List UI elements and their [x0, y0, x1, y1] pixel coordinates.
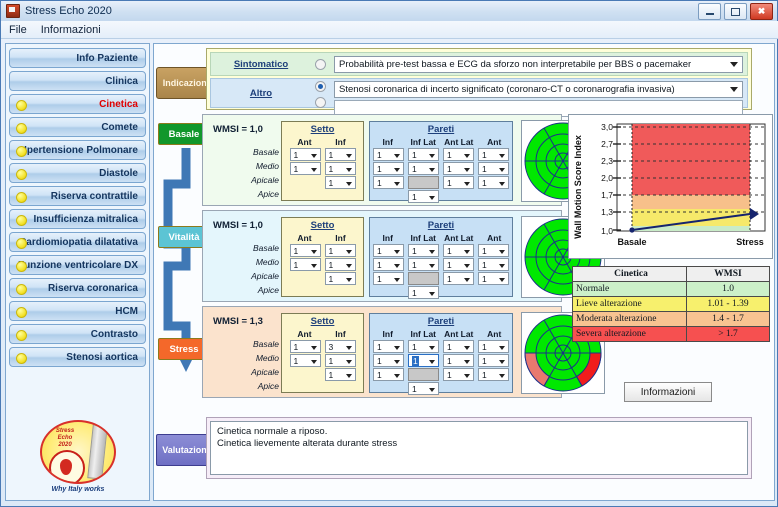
pareti-headers: Inf Inf Lat Ant Lat Ant — [370, 329, 512, 339]
legend-wmsi: 1.4 - 1.7 — [687, 312, 769, 326]
setto-cell[interactable]: 1 — [325, 368, 356, 381]
status-dot-icon — [16, 146, 27, 157]
legend-row-moderata: Moderata alterazione 1.4 - 1.7 — [573, 312, 769, 327]
row-label-medio: Medio — [223, 255, 279, 269]
sidebar: Info Paziente Clinica Cinetica Comete Ip… — [5, 43, 150, 501]
pareti-cell[interactable]: 1 — [408, 148, 439, 161]
status-dot-icon — [16, 238, 27, 249]
header-inf: Inf — [323, 329, 359, 339]
setto-cell[interactable]: 1 — [325, 272, 356, 285]
row-label-basale: Basale — [223, 337, 279, 351]
pareti-grid-basale: Pareti Inf Inf Lat Ant Lat Ant 1 1 1 1 1… — [369, 121, 513, 201]
siec-seal-icon — [49, 450, 85, 484]
sidebar-item-contrasto[interactable]: Contrasto — [9, 324, 146, 344]
wmsi-value-basale: WMSI = 1,0 — [213, 124, 263, 135]
sintomatico-label: Sintomatico — [215, 59, 307, 70]
pareti-row-basale: 1 1 1 1 — [370, 148, 512, 161]
pareti-cell[interactable]: 1 — [478, 340, 509, 353]
row-label-medio: Medio — [223, 159, 279, 173]
wmsi-chart-svg: Wall Motion Score Index 3,0 2,7 2,3 2,0 … — [569, 115, 772, 258]
pareti-cell[interactable]: 1 — [373, 176, 404, 189]
pareti-cell[interactable]: 1 — [478, 176, 509, 189]
sidebar-item-label: Stenosi aortica — [66, 352, 138, 363]
pareti-cell[interactable]: 1 — [408, 258, 439, 271]
pareti-cell[interactable]: 1 — [443, 272, 474, 285]
setto-grid-basale: Setto Ant Inf 1 1 1 1 1 — [281, 121, 364, 201]
sidebar-item-label: Riserva contrattile — [51, 191, 138, 202]
indicazioni-row-altro: Altro Stenosi coronarica di incerto sign… — [210, 78, 748, 108]
pareti-cell[interactable]: 1 — [408, 162, 439, 175]
header-inf-lat: Inf Lat — [406, 329, 442, 339]
pareti-cell[interactable]: 1 — [443, 148, 474, 161]
legend-wmsi: 1.0 — [687, 282, 769, 296]
header-inf: Inf — [323, 137, 359, 147]
wmsi-legend-table: Cinetica WMSI Normale 1.0 Lieve alterazi… — [572, 266, 770, 342]
legend-wmsi: 1.01 - 1.39 — [687, 297, 769, 311]
sidebar-item-comete[interactable]: Comete — [9, 117, 146, 137]
pareti-cell[interactable]: 1 — [373, 368, 404, 381]
pareti-cell[interactable]: 1 — [443, 354, 474, 367]
row-label-apice: Apice — [223, 379, 279, 393]
sidebar-item-clinica[interactable]: Clinica — [9, 71, 146, 91]
sidebar-item-stenosi-aortica[interactable]: Stenosi aortica — [9, 347, 146, 367]
pareti-row-apicale: 1 1 1 — [370, 368, 512, 381]
setto-row-apicale: 1 — [282, 272, 363, 285]
altro-dropdown[interactable]: Stenosi coronarica di incerto significat… — [334, 81, 743, 98]
valutazione-line-1: Cinetica normale a riposo. — [217, 426, 741, 438]
status-dot-icon — [16, 353, 27, 364]
pareti-cell[interactable]: 1 — [478, 148, 509, 161]
ytick-2-7: 2,7 — [601, 139, 613, 149]
pareti-cell[interactable]: 1 — [408, 286, 439, 299]
pareti-cell[interactable]: 1 — [478, 244, 509, 257]
setto-title: Setto — [282, 316, 363, 327]
app-logo: Stress Echo 2020 Why Italy works — [28, 420, 128, 498]
pareti-row-medio: 1 1 1 1 — [370, 162, 512, 175]
pareti-cell[interactable]: 1 — [443, 368, 474, 381]
setto-row-apicale: 1 — [282, 368, 363, 381]
maximize-button[interactable] — [724, 3, 747, 20]
row-label-basale: Basale — [223, 241, 279, 255]
status-dot-icon — [16, 100, 27, 111]
row-label-apicale: Apicale — [223, 269, 279, 283]
sidebar-item-info-paziente[interactable]: Info Paziente — [9, 48, 146, 68]
legend-wmsi: > 1.7 — [687, 327, 769, 341]
menu-item-informazioni[interactable]: Informazioni — [41, 24, 101, 36]
row-label-apice: Apice — [223, 187, 279, 201]
ytick-1-3: 1,3 — [601, 207, 613, 217]
setto-cell[interactable]: 1 — [290, 354, 321, 367]
setto-grid-vitalita: Setto Ant Inf 1 1 1 1 1 — [281, 217, 364, 297]
sintomatico-radio[interactable] — [315, 59, 326, 70]
stage-row-stress: WMSI = 1,3 Basale Medio Apicale Apice Se… — [202, 306, 562, 398]
pareti-cell[interactable]: 1 — [443, 176, 474, 189]
xtick-stress: Stress — [736, 237, 764, 247]
setto-row-basale: 1 1 — [282, 148, 363, 161]
ytick-1-0: 1,0 — [601, 226, 613, 236]
status-dot-icon — [16, 169, 27, 180]
ytick-2-0: 2,0 — [601, 173, 613, 183]
pareti-title: Pareti — [370, 124, 512, 135]
pareti-row-medio: 1 1 1 1 — [370, 258, 512, 271]
header-ant-lat: Ant Lat — [441, 137, 477, 147]
window-title: Stress Echo 2020 — [25, 5, 112, 17]
pareti-row-medio: 1 1 1 1 — [370, 354, 512, 367]
status-dot-icon — [16, 307, 27, 318]
pareti-cell-disabled — [408, 368, 439, 381]
legend-row-lieve: Lieve alterazione 1.01 - 1.39 — [573, 297, 769, 312]
sidebar-item-label: HCM — [115, 306, 138, 317]
pareti-cell[interactable]: 1 — [443, 340, 474, 353]
setto-cell[interactable]: 1 — [290, 340, 321, 353]
pareti-cell-focused[interactable]: 1 — [408, 354, 439, 367]
logo-text: Stress Echo 2020 — [47, 428, 83, 449]
setto-headers: Ant Inf — [282, 137, 363, 147]
header-ant: Ant — [477, 233, 513, 243]
title-bar: Stress Echo 2020 ✖ — [1, 1, 777, 22]
close-button[interactable]: ✖ — [750, 3, 773, 20]
setto-row-medio: 1 1 — [282, 354, 363, 367]
header-inf: Inf — [370, 329, 406, 339]
header-ant: Ant — [477, 137, 513, 147]
setto-cell[interactable]: 1 — [325, 148, 356, 161]
header-inf: Inf — [370, 137, 406, 147]
setto-cell[interactable]: 1 — [290, 148, 321, 161]
setto-cell-empty — [290, 176, 321, 189]
pareti-cell[interactable]: 1 — [443, 162, 474, 175]
setto-row-basale: 1 1 — [282, 244, 363, 257]
pareti-cell[interactable]: 1 — [373, 354, 404, 367]
row-label-apicale: Apicale — [223, 173, 279, 187]
logo-line-3: 2020 — [47, 442, 83, 449]
setto-row-medio: 1 1 — [282, 162, 363, 175]
sidebar-item-riserva-contrattile[interactable]: Riserva contrattile — [9, 186, 146, 206]
header-inf-lat: Inf Lat — [406, 137, 442, 147]
setto-cell[interactable]: 1 — [290, 162, 321, 175]
pareti-row-apice: 1 — [370, 382, 512, 395]
pareti-cell[interactable]: 1 — [478, 354, 509, 367]
header-ant: Ant — [477, 329, 513, 339]
sidebar-item-label: Clinica — [105, 76, 138, 87]
pareti-row-apice: 1 — [370, 286, 512, 299]
setto-row-apicale: 1 — [282, 176, 363, 189]
pareti-cell[interactable]: 1 — [408, 340, 439, 353]
pareti-cell[interactable]: 1 — [408, 190, 439, 203]
row-label-basale: Basale — [223, 145, 279, 159]
pareti-cell[interactable]: 1 — [478, 258, 509, 271]
wmsi-value-vitalita: WMSI = 1,0 — [213, 220, 263, 231]
window-controls: ✖ — [698, 3, 773, 20]
status-dot-icon — [16, 261, 27, 272]
legend-cinetica: Normale — [573, 282, 687, 296]
sidebar-item-label: Contrasto — [91, 329, 138, 340]
pareti-cell-disabled — [408, 176, 439, 189]
pareti-cell[interactable]: 1 — [373, 340, 404, 353]
status-dot-icon — [16, 284, 27, 295]
pareti-cell[interactable]: 1 — [373, 272, 404, 285]
header-ant: Ant — [287, 233, 323, 243]
sintomatico-dropdown[interactable]: Probabilità pre-test bassa e ECG da sfor… — [334, 56, 743, 73]
sidebar-item-insufficienza-mitralica[interactable]: Insufficienza mitralica — [9, 209, 146, 229]
setto-cell[interactable]: 1 — [325, 258, 356, 271]
setto-title: Setto — [282, 124, 363, 135]
logo-tagline: Why Italy works — [28, 486, 128, 493]
pisa-tower-icon — [87, 424, 108, 479]
pareti-cell[interactable]: 1 — [408, 382, 439, 395]
chevron-down-icon — [730, 87, 738, 92]
header-inf-lat: Inf Lat — [406, 233, 442, 243]
sidebar-item-hcm[interactable]: HCM — [9, 301, 146, 321]
row-label-medio: Medio — [223, 351, 279, 365]
row-labels-basale: Basale Medio Apicale Apice — [223, 145, 279, 201]
legend-cinetica: Lieve alterazione — [573, 297, 687, 311]
setto-cell[interactable]: 1 — [290, 258, 321, 271]
sidebar-item-riserva-coronarica[interactable]: Riserva coronarica — [9, 278, 146, 298]
sidebar-item-label: Funzione ventricolare DX — [18, 260, 138, 271]
pareti-row-apicale: 1 1 1 — [370, 176, 512, 189]
valutazione-textarea[interactable]: Cinetica normale a riposo. Cinetica liev… — [210, 421, 748, 475]
stage-row-vitalita: WMSI = 1,0 Basale Medio Apicale Apice Se… — [202, 210, 562, 302]
pareti-cell[interactable]: 1 — [443, 258, 474, 271]
valutazione-panel: Cinetica normale a riposo. Cinetica liev… — [206, 417, 752, 479]
pareti-title: Pareti — [370, 316, 512, 327]
wmsi-chart: Wall Motion Score Index 3,0 2,7 2,3 2,0 … — [568, 114, 773, 259]
pareti-cell[interactable]: 1 — [478, 162, 509, 175]
indicazioni-row-sintomatico: Sintomatico Probabilità pre-test bassa e… — [210, 52, 748, 76]
altro-value: Stenosi coronarica di incerto significat… — [339, 84, 675, 95]
ytick-2-3: 2,3 — [601, 156, 613, 166]
pareti-row-basale: 1 1 1 1 — [370, 340, 512, 353]
logo-line-1: Stress — [47, 428, 83, 435]
altro-radio-1[interactable] — [315, 81, 326, 92]
logo-line-2: Echo — [47, 435, 83, 442]
chart-y-axis-label: Wall Motion Score Index — [573, 135, 583, 239]
ytick-1-7: 1,7 — [601, 190, 613, 200]
legend-header-row: Cinetica WMSI — [573, 267, 769, 282]
informazioni-button[interactable]: Informazioni — [624, 382, 712, 402]
pareti-headers: Inf Inf Lat Ant Lat Ant — [370, 137, 512, 147]
sidebar-item-cinetica[interactable]: Cinetica — [9, 94, 146, 114]
legend-row-normale: Normale 1.0 — [573, 282, 769, 297]
altro-label: Altro — [215, 88, 307, 99]
pareti-grid-stress: Pareti Inf Inf Lat Ant Lat Ant 1 1 1 1 1… — [369, 313, 513, 393]
row-labels-stress: Basale Medio Apicale Apice — [223, 337, 279, 393]
application-window: Stress Echo 2020 ✖ File Informazioni Inf… — [0, 0, 778, 507]
pareti-cell[interactable]: 1 — [408, 244, 439, 257]
chart-point-basale — [629, 227, 634, 232]
indicazioni-panel: Sintomatico Probabilità pre-test bassa e… — [206, 48, 752, 110]
pareti-row-apice: 1 — [370, 190, 512, 203]
sidebar-item-cardiomiopatia-dilatativa[interactable]: Cardiomiopatia dilatativa — [9, 232, 146, 252]
legend-header-cinetica: Cinetica — [573, 267, 687, 281]
pareti-cell[interactable]: 1 — [373, 162, 404, 175]
header-inf: Inf — [370, 233, 406, 243]
status-dot-icon — [16, 215, 27, 226]
sidebar-item-label: Diastole — [99, 168, 138, 179]
stage-row-basale: WMSI = 1,0 Basale Medio Apicale Apice Se… — [202, 114, 562, 206]
header-ant-lat: Ant Lat — [441, 329, 477, 339]
setto-cell[interactable]: 1 — [290, 244, 321, 257]
pareti-grid-vitalita: Pareti Inf Inf Lat Ant Lat Ant 1 1 1 1 1… — [369, 217, 513, 297]
status-dot-icon — [16, 123, 27, 134]
sidebar-item-ipertensione-polmonare[interactable]: Ipertensione Polmonare — [9, 140, 146, 160]
sidebar-item-label: Cinetica — [99, 99, 138, 110]
sidebar-item-label: Info Paziente — [76, 53, 138, 64]
pareti-cell[interactable]: 1 — [373, 148, 404, 161]
menu-bar: File Informazioni — [1, 21, 778, 39]
logo-disc-icon: Stress Echo 2020 — [40, 420, 116, 484]
sidebar-item-label: Ipertensione Polmonare — [24, 145, 138, 156]
row-label-apicale: Apicale — [223, 365, 279, 379]
xtick-basale: Basale — [617, 237, 646, 247]
pareti-cell[interactable]: 1 — [373, 258, 404, 271]
setto-cell[interactable]: 1 — [325, 176, 356, 189]
setto-cell-abnormal[interactable]: 3 — [325, 340, 356, 353]
altro-radio-2[interactable] — [315, 97, 326, 108]
sidebar-item-label: Cardiomiopatia dilatativa — [19, 237, 138, 248]
main-panel: Indicazioni Sintomatico Probabilità pre-… — [153, 43, 775, 501]
app-icon — [6, 4, 20, 18]
pareti-row-apicale: 1 1 1 — [370, 272, 512, 285]
status-dot-icon — [16, 192, 27, 203]
pareti-cell[interactable]: 1 — [478, 272, 509, 285]
row-labels-vitalita: Basale Medio Apicale Apice — [223, 241, 279, 297]
pareti-cell[interactable]: 1 — [373, 244, 404, 257]
setto-cell[interactable]: 1 — [325, 244, 356, 257]
header-ant-lat: Ant Lat — [441, 233, 477, 243]
setto-headers: Ant Inf — [282, 233, 363, 243]
setto-grid-stress: Setto Ant Inf 1 3 1 1 1 — [281, 313, 364, 393]
chevron-down-icon — [730, 62, 738, 67]
setto-row-basale: 1 3 — [282, 340, 363, 353]
menu-item-file[interactable]: File — [9, 24, 27, 36]
legend-cinetica: Moderata alterazione — [573, 312, 687, 326]
sidebar-item-label: Riserva coronarica — [48, 283, 138, 294]
sidebar-item-funzione-ventricolare-dx[interactable]: Funzione ventricolare DX — [9, 255, 146, 275]
minimize-button[interactable] — [698, 3, 721, 20]
sintomatico-value: Probabilità pre-test bassa e ECG da sfor… — [339, 59, 691, 70]
setto-headers: Ant Inf — [282, 329, 363, 339]
setto-row-medio: 1 1 — [282, 258, 363, 271]
pareti-cell-disabled — [408, 272, 439, 285]
legend-header-wmsi: WMSI — [687, 267, 769, 281]
wmsi-value-stress: WMSI = 1,3 — [213, 316, 263, 327]
pareti-row-basale: 1 1 1 1 — [370, 244, 512, 257]
header-ant: Ant — [287, 329, 323, 339]
header-inf: Inf — [323, 233, 359, 243]
setto-cell[interactable]: 1 — [325, 162, 356, 175]
sidebar-item-label: Insufficienza mitralica — [34, 214, 138, 225]
pareti-cell[interactable]: 1 — [478, 368, 509, 381]
sidebar-item-diastole[interactable]: Diastole — [9, 163, 146, 183]
pareti-title: Pareti — [370, 220, 512, 231]
pareti-headers: Inf Inf Lat Ant Lat Ant — [370, 233, 512, 243]
setto-cell[interactable]: 1 — [325, 354, 356, 367]
valutazione-line-2: Cinetica lievemente alterata durante str… — [217, 438, 741, 450]
ytick-3-0: 3,0 — [601, 122, 613, 132]
sidebar-item-label: Comete — [101, 122, 138, 133]
legend-row-severa: Severa alterazione > 1.7 — [573, 327, 769, 341]
header-ant: Ant — [287, 137, 323, 147]
setto-title: Setto — [282, 220, 363, 231]
legend-cinetica: Severa alterazione — [573, 327, 687, 341]
pareti-cell[interactable]: 1 — [443, 244, 474, 257]
row-label-apice: Apice — [223, 283, 279, 297]
status-dot-icon — [16, 330, 27, 341]
